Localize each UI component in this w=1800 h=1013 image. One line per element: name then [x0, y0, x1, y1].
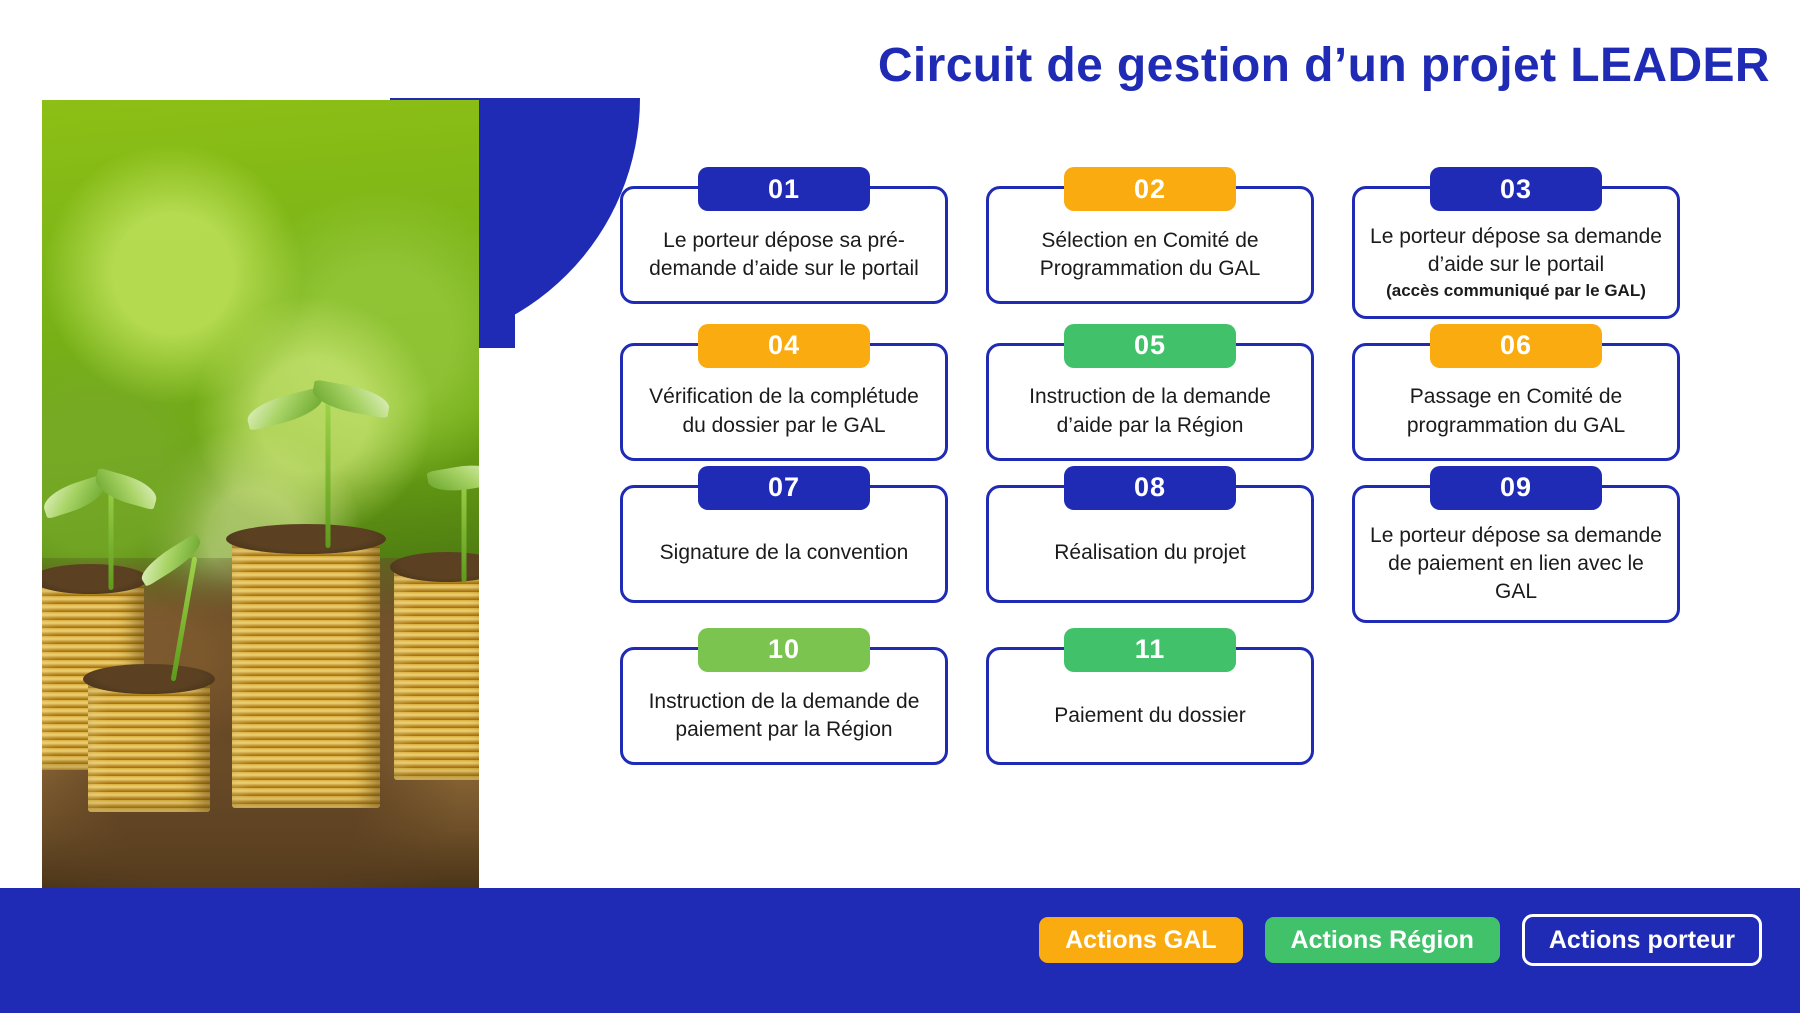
- coin-stack-second: [88, 680, 210, 812]
- step-badge-02: 02: [1064, 167, 1236, 211]
- step-text-01: Le porteur dépose sa pré-demande d’aide …: [637, 227, 931, 283]
- steps-row-4: 10 Instruction de la demande de paiement…: [620, 647, 1760, 765]
- step-text-03: Le porteur dépose sa demande d’aide sur …: [1369, 223, 1663, 279]
- step-text-09: Le porteur dépose sa demande de paiement…: [1369, 522, 1663, 606]
- step-card-02[interactable]: 02 Sélection en Comité de Programmation …: [986, 186, 1314, 304]
- step-card-11[interactable]: 11 Paiement du dossier: [986, 647, 1314, 765]
- step-subtext-03: (accès communiqué par le GAL): [1386, 280, 1646, 301]
- step-badge-11: 11: [1064, 628, 1236, 672]
- step-badge-05: 05: [1064, 324, 1236, 368]
- steps-grid: 01 Le porteur dépose sa pré-demande d’ai…: [620, 186, 1760, 789]
- page-title: Circuit de gestion d’un projet LEADER: [660, 38, 1770, 93]
- step-text-06: Passage en Comité de programmation du GA…: [1369, 383, 1663, 439]
- legend-actions-gal[interactable]: Actions GAL: [1039, 917, 1242, 963]
- coin-stack-right: [394, 568, 479, 780]
- bottom-bar: Actions GAL Actions Région Actions porte…: [0, 888, 1800, 1013]
- step-badge-04: 04: [698, 324, 870, 368]
- step-text-11: Paiement du dossier: [1054, 702, 1245, 730]
- legend-actions-region[interactable]: Actions Région: [1265, 917, 1500, 963]
- step-badge-09: 09: [1430, 466, 1602, 510]
- step-card-09[interactable]: 09 Le porteur dépose sa demande de paiem…: [1352, 485, 1680, 623]
- step-text-02: Sélection en Comité de Programmation du …: [1003, 227, 1297, 283]
- step-text-10: Instruction de la demande de paiement pa…: [637, 688, 931, 744]
- step-card-03[interactable]: 03 Le porteur dépose sa demande d’aide s…: [1352, 186, 1680, 319]
- legend: Actions GAL Actions Région Actions porte…: [1039, 914, 1762, 966]
- steps-row-1: 01 Le porteur dépose sa pré-demande d’ai…: [620, 186, 1760, 319]
- sprout-middle: [154, 556, 214, 682]
- step-text-08: Réalisation du projet: [1054, 539, 1245, 567]
- step-text-05: Instruction de la demande d’aide par la …: [1003, 383, 1297, 439]
- coins-with-seedlings-photo: [42, 100, 479, 890]
- step-card-08[interactable]: 08 Réalisation du projet: [986, 485, 1314, 603]
- steps-row-3: 07 Signature de la convention 08 Réalisa…: [620, 485, 1760, 623]
- step-badge-01: 01: [698, 167, 870, 211]
- step-badge-06: 06: [1430, 324, 1602, 368]
- sprout-left: [76, 480, 146, 590]
- sprout-right: [434, 472, 479, 582]
- step-card-04[interactable]: 04 Vérification de la complétude du doss…: [620, 343, 948, 461]
- step-card-07[interactable]: 07 Signature de la convention: [620, 485, 948, 603]
- step-badge-08: 08: [1064, 466, 1236, 510]
- step-badge-03: 03: [1430, 167, 1602, 211]
- step-text-07: Signature de la convention: [660, 539, 909, 567]
- step-text-04: Vérification de la complétude du dossier…: [637, 383, 931, 439]
- coin-stack-center-tall: [232, 540, 380, 808]
- step-badge-07: 07: [698, 466, 870, 510]
- sprout-center: [290, 398, 366, 548]
- steps-row-2: 04 Vérification de la complétude du doss…: [620, 343, 1760, 461]
- step-badge-10: 10: [698, 628, 870, 672]
- step-card-10[interactable]: 10 Instruction de la demande de paiement…: [620, 647, 948, 765]
- legend-actions-porteur[interactable]: Actions porteur: [1522, 914, 1762, 966]
- step-card-06[interactable]: 06 Passage en Comité de programmation du…: [1352, 343, 1680, 461]
- step-card-01[interactable]: 01 Le porteur dépose sa pré-demande d’ai…: [620, 186, 948, 304]
- step-card-05[interactable]: 05 Instruction de la demande d’aide par …: [986, 343, 1314, 461]
